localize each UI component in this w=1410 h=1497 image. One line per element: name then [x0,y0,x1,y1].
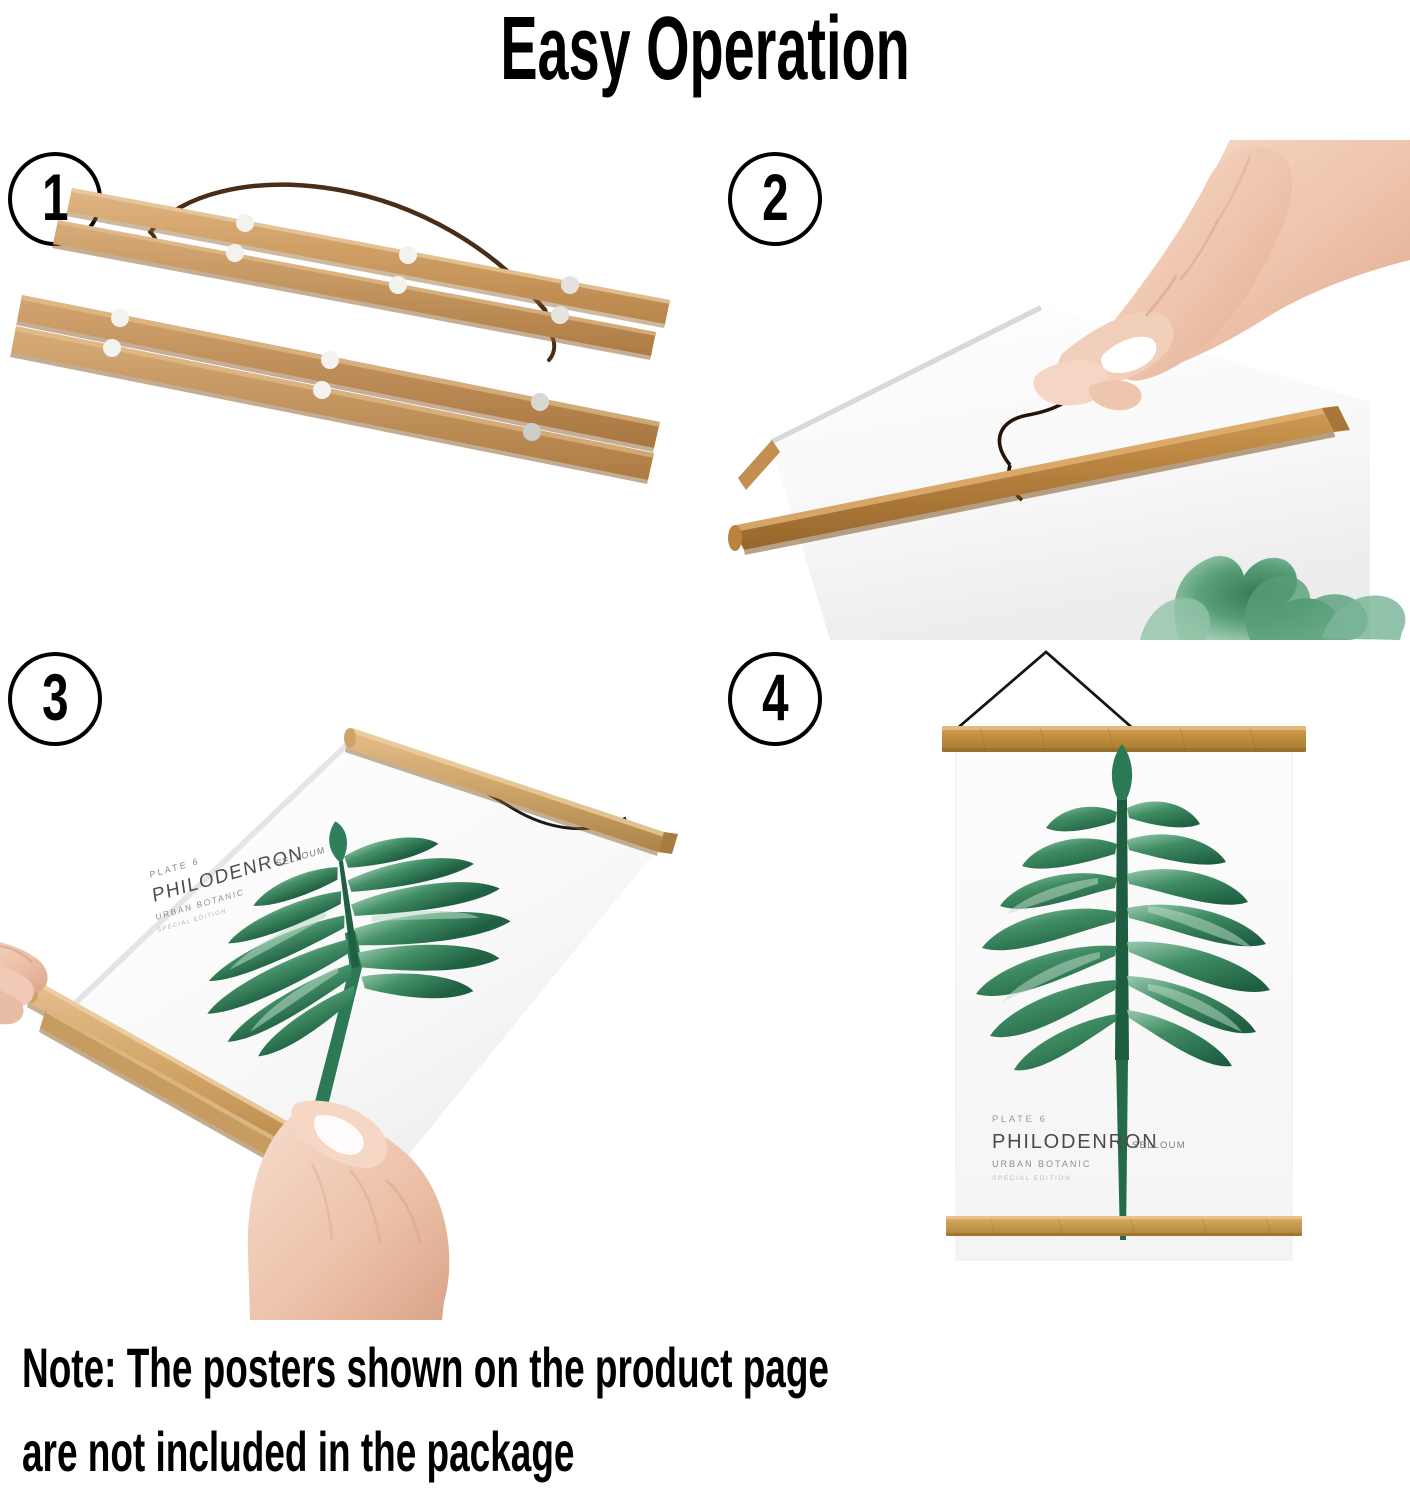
poster-brand: URBAN BOTANIC [992,1159,1091,1169]
hand-left-holding-bar [0,926,48,1040]
step-panel-4: 4 [710,640,1410,1320]
poster-edition: SPECIAL EDITION [992,1175,1071,1182]
note-line-2: are not included in the package [22,1410,926,1494]
wooden-bottom-bar [946,1216,1302,1236]
step-4-illustration: PLATE 6 PHILODENRON SELLOUM URBAN BOTANI… [710,640,1410,1320]
step-panel-3: 3 [0,640,700,1320]
step-3-illustration: PLATE 6 PHILODENRON SELLOUM URBAN BOTANI… [0,640,700,1320]
header: Easy Operation [0,0,1410,115]
hanging-cord [953,652,1137,732]
poster-plate-label: PLATE 6 [992,1114,1048,1125]
note-block: Note: The posters shown on the product p… [22,1326,1392,1494]
step-1-illustration [0,140,700,640]
step-panel-2: 2 [710,140,1410,640]
step-2-illustration [710,140,1410,640]
note-line-1: Note: The posters shown on the product p… [22,1326,926,1410]
step-panel-1: 1 [0,140,700,640]
poster-species-variety: SELLOUM [1132,1140,1186,1151]
page-title: Easy Operation [268,0,1142,104]
